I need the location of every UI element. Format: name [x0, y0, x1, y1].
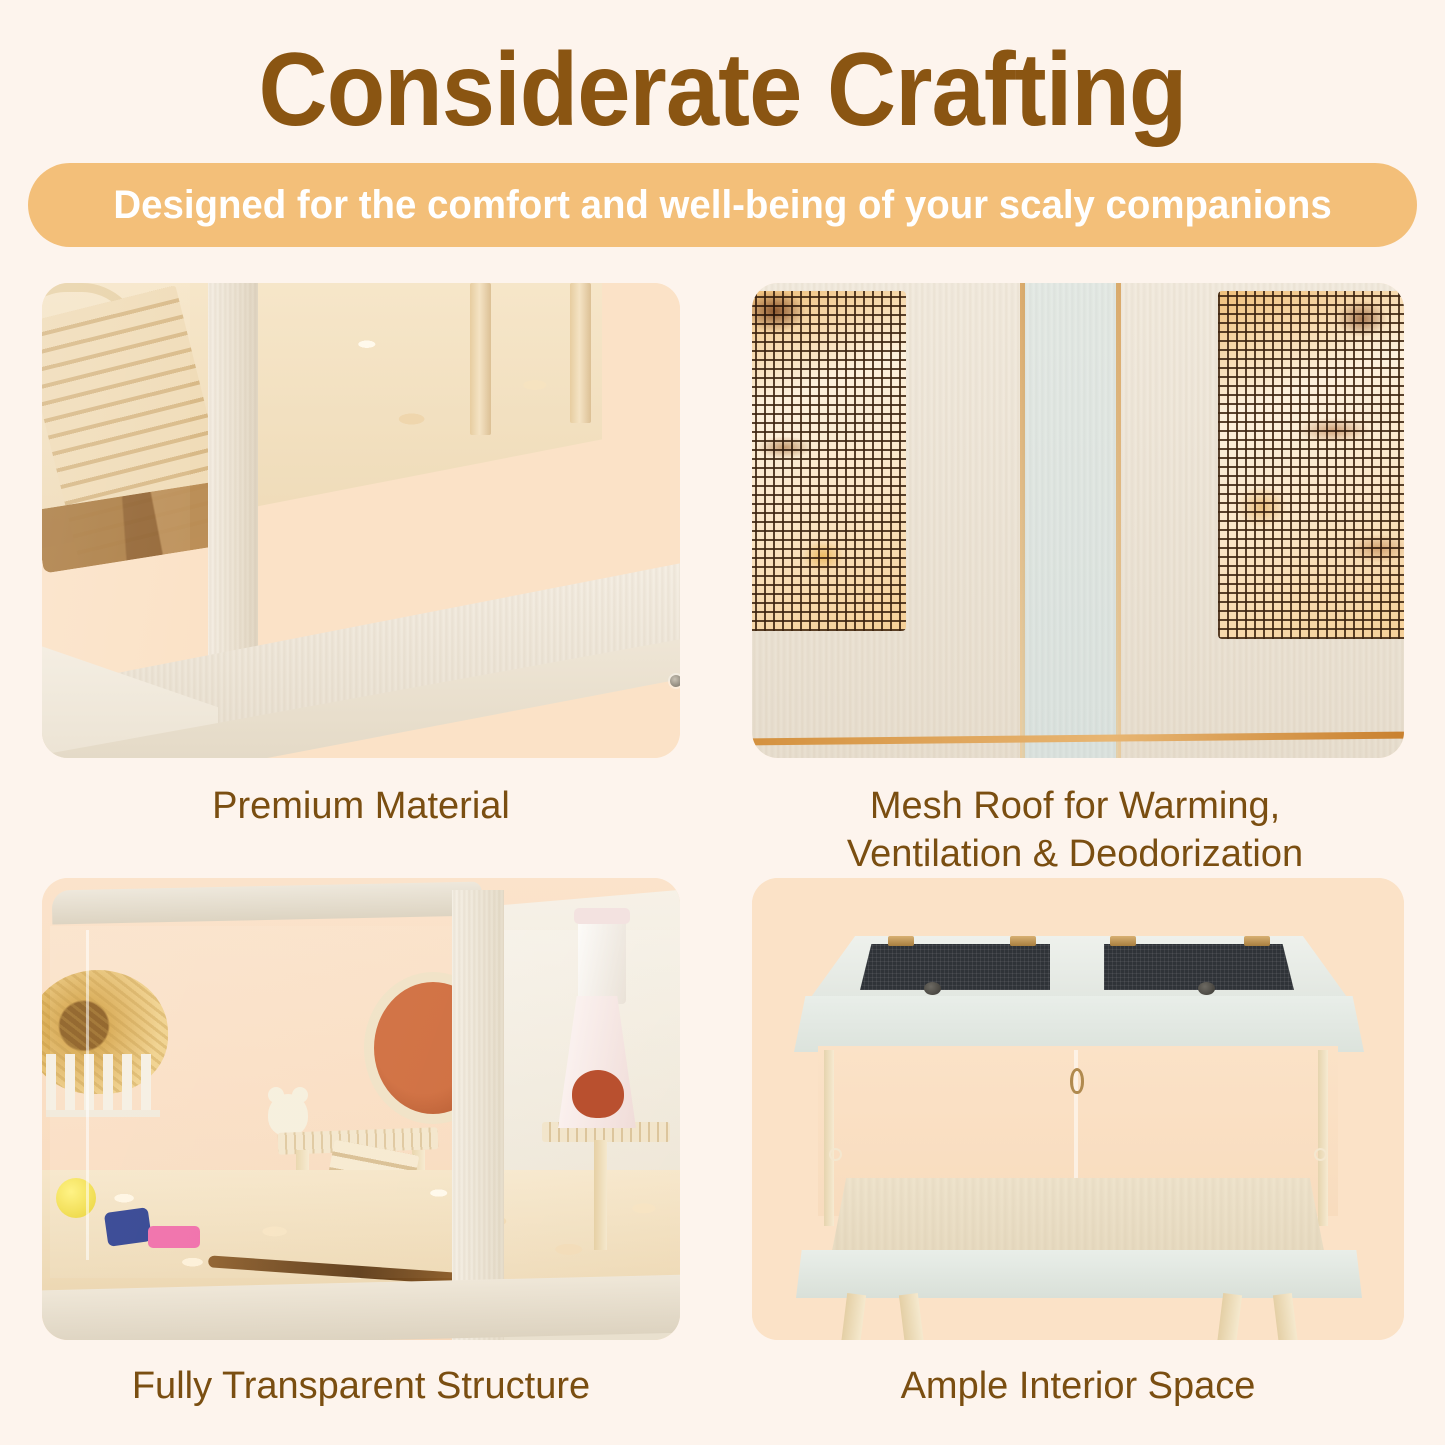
vent-hole-icon	[1314, 1148, 1327, 1161]
hinge-icon	[1110, 936, 1136, 946]
hinge-icon	[1010, 936, 1036, 946]
mesh-window-left	[860, 944, 1050, 990]
lid-knob	[1198, 982, 1215, 995]
hinge-icon	[1244, 936, 1270, 946]
lid-knob	[924, 982, 941, 995]
caption-line-1: Premium Material	[212, 785, 510, 827]
feature-image-transparent-structure	[42, 878, 680, 1340]
acrylic-panel	[42, 283, 190, 683]
front-acrylic-panel	[50, 926, 456, 1278]
support-post	[570, 283, 591, 423]
caption-line-1: Mesh Roof for Warming,	[870, 785, 1280, 827]
mesh-window-left	[752, 291, 906, 631]
caption-premium-material: Premium Material	[42, 782, 680, 830]
caption-line-1: Fully Transparent Structure	[132, 1365, 590, 1407]
mesh-window-right	[1218, 291, 1404, 639]
water-bottle-tube	[578, 916, 626, 1004]
corner-frame-post	[824, 1050, 834, 1226]
feature-image-ample-interior-space	[752, 878, 1404, 1340]
center-plank	[1022, 283, 1118, 758]
feature-image-mesh-roof	[752, 283, 1404, 758]
panel-seam	[1020, 283, 1025, 758]
panel-seam	[1116, 283, 1121, 758]
top-frame-rail	[794, 996, 1364, 1052]
shelf-leg	[594, 1140, 607, 1250]
screw-icon	[670, 675, 680, 687]
vent-hole-icon	[829, 1148, 842, 1161]
acrylic-edge	[86, 930, 89, 1260]
caption-transparent-structure: Fully Transparent Structure	[42, 1362, 680, 1410]
feature-image-premium-material	[42, 283, 680, 758]
mesh-window-right	[1104, 944, 1294, 990]
subtitle-banner: Designed for the comfort and well-being …	[28, 163, 1417, 247]
photo-transparent-structure	[42, 878, 680, 1340]
base-rail	[796, 1250, 1362, 1298]
water-bottle-label	[572, 1070, 624, 1118]
hinge-icon	[888, 936, 914, 946]
water-bottle-cap	[574, 908, 630, 924]
caption-mesh-roof: Mesh Roof for Warming, Ventilation & Deo…	[730, 782, 1420, 878]
corner-frame-post	[452, 890, 504, 1340]
page-title: Considerate Crafting	[58, 30, 1387, 150]
photo-premium-material	[42, 283, 680, 758]
corner-frame-post	[1318, 1050, 1328, 1226]
subtitle-text: Designed for the comfort and well-being …	[113, 183, 1331, 228]
support-post	[470, 283, 491, 435]
caption-ample-interior-space: Ample Interior Space	[752, 1362, 1404, 1410]
caption-line-1: Ample Interior Space	[901, 1365, 1256, 1407]
photo-mesh-roof	[752, 283, 1404, 758]
photo-ample-interior-space	[752, 878, 1404, 1340]
caption-line-2: Ventilation & Deodorization	[730, 830, 1420, 878]
door-latch-icon	[1070, 1068, 1084, 1094]
